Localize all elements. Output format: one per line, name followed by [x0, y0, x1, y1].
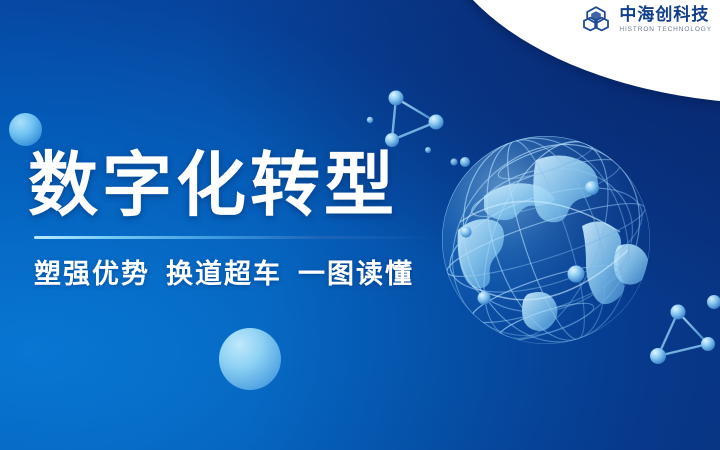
- company-name-en: HISTRON TECHNOLOGY: [619, 27, 712, 34]
- company-logo: 中海创科技 HISTRON TECHNOLOGY: [580, 4, 712, 36]
- sphere-decoration-icon: [219, 328, 281, 390]
- subtitle-part-3: 一图读懂: [298, 259, 414, 290]
- company-name-cn: 中海创科技: [619, 7, 712, 24]
- wireframe-globe-icon: [432, 126, 660, 354]
- subtitle-part-1: 塑强优势: [34, 259, 150, 290]
- digital-transformation-banner: 中海创科技 HISTRON TECHNOLOGY 数字化转型 塑强优势换道超车一…: [0, 0, 720, 450]
- page-title: 数字化转型: [28, 150, 448, 220]
- sphere-decoration-icon: [9, 113, 42, 146]
- page-subtitle: 塑强优势换道超车一图读懂: [34, 252, 448, 291]
- subtitle-part-2: 换道超车: [166, 259, 282, 290]
- title-divider: [34, 236, 434, 239]
- hexagon-cube-logo-icon: [580, 4, 612, 36]
- headline-block: 数字化转型 塑强优势换道超车一图读懂: [28, 150, 448, 291]
